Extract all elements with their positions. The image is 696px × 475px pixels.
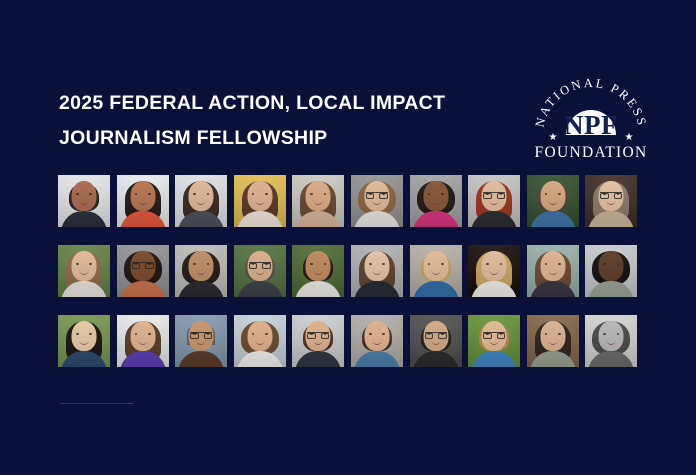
fellow-photo-8 <box>468 175 520 227</box>
fellow-photo-19 <box>527 245 579 297</box>
fellow-photo-20 <box>585 245 637 297</box>
fellows-photo-grid <box>58 175 638 367</box>
fellow-photo-30 <box>585 315 637 367</box>
logo-star-right-icon: ★ <box>625 132 634 143</box>
logo-monogram: NPF <box>564 110 618 140</box>
fellow-photo-29 <box>527 315 579 367</box>
fellow-photo-9 <box>527 175 579 227</box>
fellow-photo-12 <box>117 245 169 297</box>
fellow-photo-21 <box>58 315 110 367</box>
fellow-photo-18 <box>468 245 520 297</box>
fellowship-announcement-poster: 2025 FEDERAL ACTION, LOCAL IMPACT JOURNA… <box>0 0 696 475</box>
fellow-photo-7 <box>410 175 462 227</box>
fellow-photo-5 <box>292 175 344 227</box>
logo-star-left-icon: ★ <box>549 132 558 143</box>
fellow-photo-27 <box>410 315 462 367</box>
page-title: 2025 FEDERAL ACTION, LOCAL IMPACT JOURNA… <box>59 86 499 156</box>
fellow-photo-6 <box>351 175 403 227</box>
fellow-photo-17 <box>410 245 462 297</box>
fellow-photo-24 <box>234 315 286 367</box>
fellow-photo-11 <box>58 245 110 297</box>
page-title-line-1: 2025 FEDERAL ACTION, LOCAL IMPACT <box>59 86 499 121</box>
fellow-photo-22 <box>117 315 169 367</box>
fellow-photo-4 <box>234 175 286 227</box>
fellow-photo-14 <box>234 245 286 297</box>
fellow-photo-25 <box>292 315 344 367</box>
fellow-photo-10 <box>585 175 637 227</box>
fellow-photo-15 <box>292 245 344 297</box>
fellow-photo-26 <box>351 315 403 367</box>
fellow-photo-28 <box>468 315 520 367</box>
fellow-photo-13 <box>175 245 227 297</box>
logo-base-text: FOUNDATION <box>535 144 648 161</box>
national-press-foundation-logo: NATIONAL PRESS NPF ★ ★ FOUNDATION <box>527 73 655 165</box>
fellow-photo-16 <box>351 245 403 297</box>
fellow-photo-3 <box>175 175 227 227</box>
bottom-divider <box>60 403 133 404</box>
fellow-photo-1 <box>58 175 110 227</box>
page-title-line-2: JOURNALISM FELLOWSHIP <box>59 121 499 156</box>
fellow-photo-23 <box>175 315 227 367</box>
fellow-photo-2 <box>117 175 169 227</box>
